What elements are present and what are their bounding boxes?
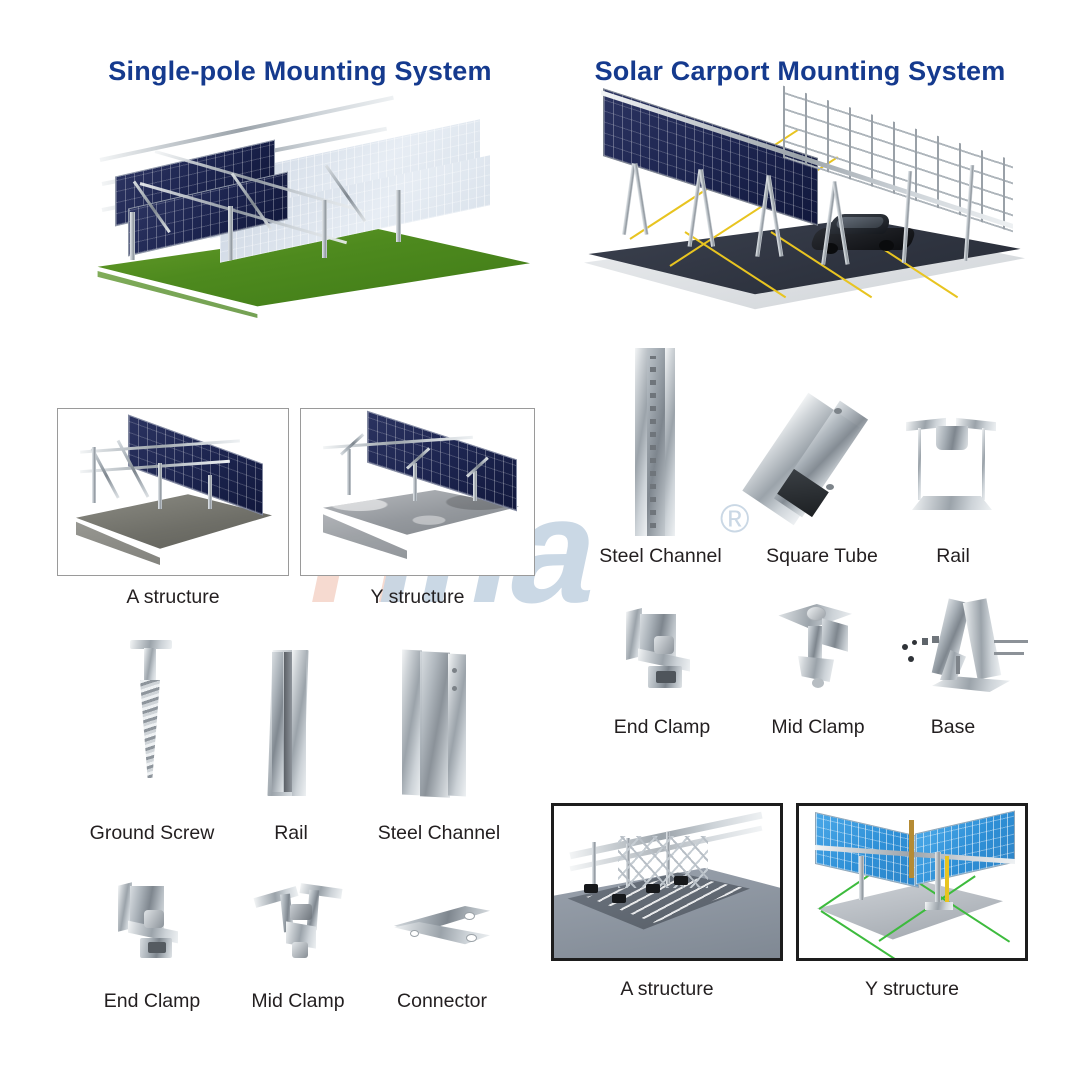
support-leg-3 — [322, 200, 327, 258]
label-base: Base — [908, 716, 998, 739]
panel-a-structure-ground[interactable] — [57, 408, 289, 576]
registered-mark: ® — [720, 497, 749, 541]
ground-plane — [813, 880, 1003, 942]
label-y-structure-ground: Y structure — [300, 586, 535, 609]
label-steel-channel-right: Steel Channel — [578, 545, 743, 568]
panel-a-structure-carport[interactable] — [551, 803, 783, 961]
label-connector: Connector — [368, 990, 516, 1013]
label-ground-screw: Ground Screw — [72, 822, 232, 845]
mid-clamp — [252, 880, 348, 966]
steel-channel — [398, 650, 473, 800]
carport-mid-clamp — [768, 600, 864, 698]
label-steel-channel-left: Steel Channel — [358, 822, 520, 845]
product-overview-poster: Single-pole Mounting System Solar Carpor… — [0, 0, 1080, 1080]
heading-solar-carport: Solar Carport Mounting System — [560, 56, 1040, 87]
label-carport-rail: Rail — [908, 545, 998, 568]
label-square-tube: Square Tube — [742, 545, 902, 568]
label-a-structure-carport: A structure — [551, 978, 783, 1001]
panel-y-structure-ground[interactable] — [300, 408, 535, 576]
panel-y-structure-carport[interactable] — [796, 803, 1028, 961]
label-y-structure-carport: Y structure — [796, 978, 1028, 1001]
pv-deck-right — [915, 810, 1015, 885]
steel-channel-perforated — [625, 348, 695, 538]
carport-rail — [902, 408, 1002, 528]
label-a-structure-ground: A structure — [57, 586, 289, 609]
square-tube — [760, 388, 885, 533]
truss-web — [618, 836, 708, 888]
single-pole-ground-mount-render — [60, 120, 560, 320]
heading-single-pole: Single-pole Mounting System — [60, 56, 540, 87]
end-clamp — [108, 882, 198, 964]
carport-end-clamp — [618, 608, 710, 698]
solar-carport-render — [575, 105, 1035, 320]
connector — [388, 896, 498, 962]
support-leg-2 — [228, 206, 233, 260]
support-leg-1 — [130, 212, 135, 260]
rail — [262, 650, 320, 800]
carport-base — [898, 600, 1038, 700]
support-leg-4 — [396, 190, 401, 242]
ground-screw — [122, 640, 182, 800]
label-rail: Rail — [236, 822, 346, 845]
label-mid-clamp-right: Mid Clamp — [742, 716, 894, 739]
label-end-clamp-left: End Clamp — [78, 990, 226, 1013]
label-mid-clamp-left: Mid Clamp — [224, 990, 372, 1013]
label-end-clamp-right: End Clamp — [588, 716, 736, 739]
